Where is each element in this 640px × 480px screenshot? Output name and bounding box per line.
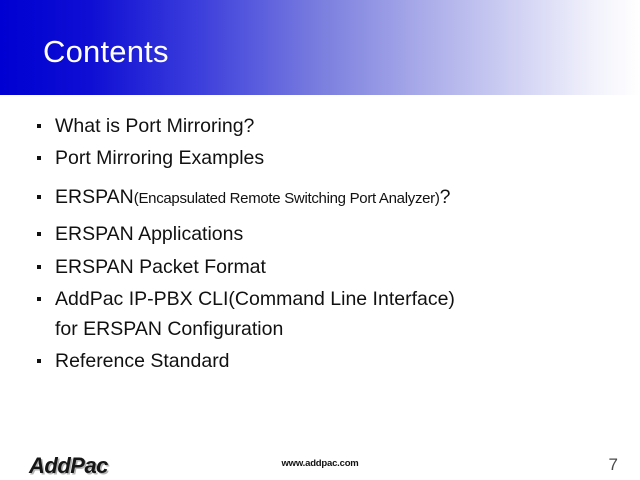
list-item-label: What is Port Mirroring? <box>55 115 254 137</box>
slide-footer: AddPac www.addpac.com 7 <box>0 445 640 480</box>
list-item-sublabel: (Encapsulated Remote Switching Port Anal… <box>134 190 440 207</box>
slide-canvas: Contents What is Port Mirroring? Port Mi… <box>0 0 640 480</box>
bullet-square-icon <box>37 156 41 160</box>
list-item: AddPac IP-PBX CLI(Command Line Interface… <box>0 289 640 309</box>
list-item-label: Reference Standard <box>55 350 230 372</box>
list-item-suffix: ? <box>440 186 451 208</box>
list-item-label: AddPac IP-PBX CLI(Command Line Interface… <box>55 288 455 310</box>
list-item-continuation: for ERSPAN Configuration <box>0 319 640 339</box>
list-item: ERSPAN Packet Format <box>0 257 640 277</box>
bullet-square-icon <box>37 265 41 269</box>
list-item-label: ERSPAN <box>55 186 134 208</box>
contents-list: What is Port Mirroring? Port Mirroring E… <box>0 104 640 371</box>
list-item-label: ERSPAN Applications <box>55 223 243 245</box>
list-item: Reference Standard <box>0 351 640 371</box>
bullet-square-icon <box>37 359 41 363</box>
list-item-label: ERSPAN Packet Format <box>55 256 266 278</box>
bullet-square-icon <box>37 124 41 128</box>
list-item: ERSPAN(Encapsulated Remote Switching Por… <box>0 187 640 209</box>
list-item-label: Port Mirroring Examples <box>55 147 264 169</box>
bullet-square-icon <box>37 232 41 236</box>
list-item: Port Mirroring Examples <box>0 148 640 168</box>
page-title: Contents <box>43 34 169 70</box>
slide-header-band: Contents <box>0 0 640 95</box>
bullet-square-icon <box>37 297 41 301</box>
website-url: www.addpac.com <box>0 458 640 469</box>
bullet-square-icon <box>37 195 41 199</box>
list-item: ERSPAN Applications <box>0 224 640 244</box>
list-item-continuation-label: for ERSPAN Configuration <box>55 318 283 340</box>
page-number: 7 <box>609 455 618 475</box>
list-item: What is Port Mirroring? <box>0 116 640 136</box>
